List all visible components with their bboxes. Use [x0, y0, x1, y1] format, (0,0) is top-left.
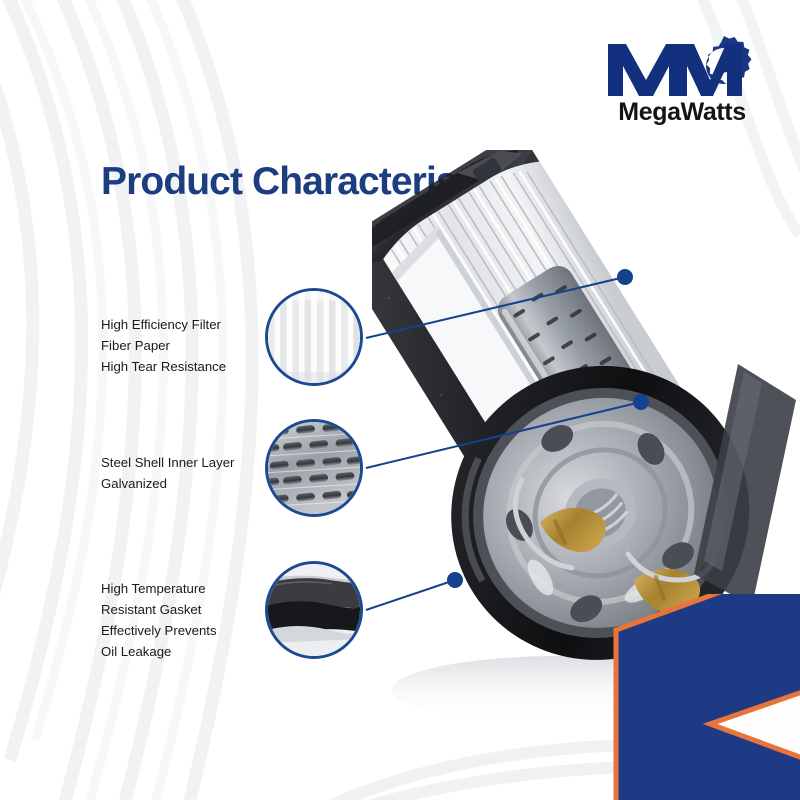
- feature-line: Oil Leakage: [101, 641, 217, 662]
- corner-chevron-accent: [598, 594, 800, 800]
- mw-monogram-gear-icon: [606, 36, 758, 98]
- callout-steel-shell: [265, 419, 363, 517]
- infographic-canvas: MegaWatts Product Characteristic: [0, 0, 800, 800]
- galvanized-steel-mesh-photo: [268, 422, 360, 514]
- megawatts-logo: MegaWatts: [598, 36, 766, 146]
- logo-wordmark: MegaWatts: [598, 100, 766, 125]
- feature-line: High Temperature: [101, 578, 217, 599]
- rubber-gasket-photo: [268, 564, 360, 656]
- feature-text-steel-shell: Steel Shell Inner Layer Galvanized: [101, 452, 234, 494]
- feature-text-gasket: High Temperature Resistant Gasket Effect…: [101, 578, 217, 662]
- callout-gasket: [265, 561, 363, 659]
- callout-filter-paper: [265, 288, 363, 386]
- feature-text-filter-paper: High Efficiency Filter Fiber Paper High …: [101, 314, 226, 377]
- feature-line: Steel Shell Inner Layer: [101, 452, 234, 473]
- feature-line: Effectively Prevents: [101, 620, 217, 641]
- feature-line: Resistant Gasket: [101, 599, 217, 620]
- feature-line: High Tear Resistance: [101, 356, 226, 377]
- pleated-filter-paper-photo: [268, 291, 360, 383]
- feature-line: Fiber Paper: [101, 335, 226, 356]
- feature-line: High Efficiency Filter: [101, 314, 226, 335]
- feature-line: Galvanized: [101, 473, 234, 494]
